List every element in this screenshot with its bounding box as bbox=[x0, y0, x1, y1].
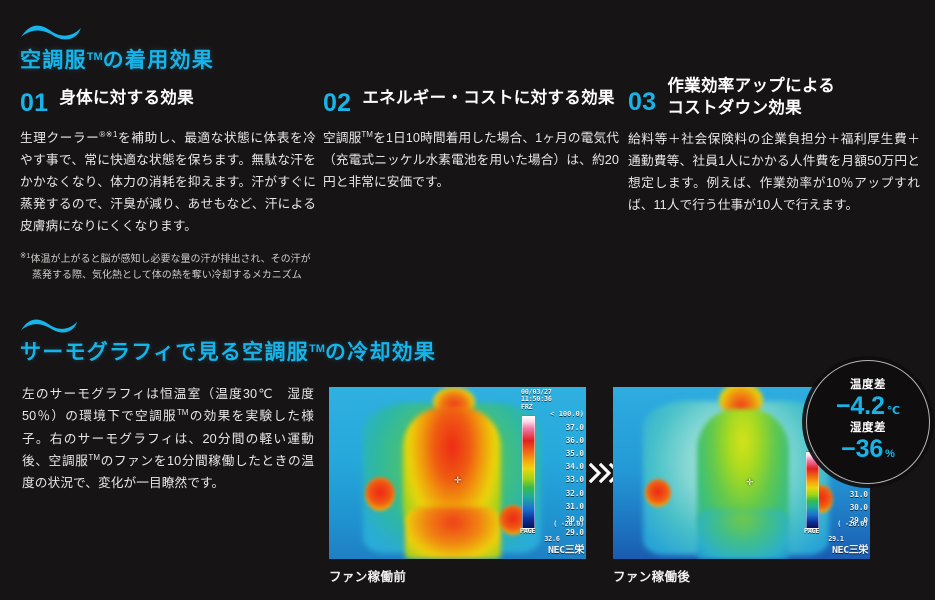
section-heading-wearing-effect: 空調服TMの着用効果 bbox=[20, 44, 214, 74]
section1-heading-main: 空調服 bbox=[20, 49, 87, 72]
wave-icon-thermography bbox=[20, 316, 82, 335]
spot-crosshair: ✛ bbox=[454, 475, 462, 486]
scale-tick: 34.0 bbox=[536, 463, 584, 471]
thermal-colour-bar bbox=[806, 451, 819, 529]
scale-tick: 36.0 bbox=[536, 437, 584, 445]
scale-tick: 30.0 bbox=[820, 504, 868, 512]
thermogram-after-footer: ( -20.0) PAGE 29.1 NEC三栄 bbox=[804, 521, 868, 556]
brochure-page: 空調服TMの着用効果 01 身体に対する効果 生理クーラー®※1を補助し、最適な… bbox=[0, 0, 935, 600]
column-03-body: 給料等＋社会保険料の企業負担分＋福利厚生費＋通勤費等、社員1人にかかる人件費を月… bbox=[628, 129, 920, 217]
column-02-title: エネルギー・コストに対する効果 bbox=[362, 88, 614, 110]
scale-tick: 31.0 bbox=[820, 491, 868, 499]
wave-icon-top bbox=[20, 22, 86, 42]
thermal-hand-left bbox=[365, 477, 395, 511]
badge-humidity-value: −36 bbox=[841, 435, 883, 463]
nec-sanei-brand: NEC三栄 bbox=[804, 545, 868, 557]
scale-range-top: < 100.0) bbox=[536, 411, 584, 418]
badge-temp-label: 温度差 bbox=[850, 379, 886, 392]
column-03-title-line-1: 作業効率アップによる bbox=[667, 76, 835, 98]
trademark-mark: TM bbox=[87, 51, 103, 63]
feature-column-01: 01 身体に対する効果 生理クーラー®※1を補助し、最適な状態に体表を冷やす事で… bbox=[20, 88, 316, 284]
column-01-number: 01 bbox=[20, 88, 48, 117]
thermography-description: 左のサーモグラフィは恒温室（温度30℃ 湿度50％）の環境下で空調服TMの効果を… bbox=[22, 383, 314, 495]
thermogram-before-image: ✛ 00/03/27 11:50:36 FRZ < 100.0) 37.0 36… bbox=[329, 387, 586, 559]
column-02-number: 02 bbox=[323, 88, 351, 117]
footnote-mark: ※1 bbox=[20, 251, 30, 260]
scale-tick: 35.0 bbox=[536, 450, 584, 458]
thermogram-before-footer: ( -20.0) PAGE 32.6 NEC三栄 bbox=[520, 521, 584, 556]
thermal-lower-body bbox=[405, 507, 501, 559]
feature-column-02: 02 エネルギー・コストに対する効果 空調服TMを1日10時間着用した場合、1ヶ… bbox=[323, 88, 619, 194]
column-03-title: 作業効率アップによる コストダウン効果 bbox=[667, 76, 835, 120]
scale-tick: 33.0 bbox=[536, 476, 584, 484]
section2-heading-tail: の冷却効果 bbox=[325, 341, 436, 364]
scale-tick: 37.0 bbox=[536, 424, 584, 432]
spot-temperature-value: 32.6 bbox=[520, 536, 584, 544]
badge-humidity-unit: % bbox=[885, 448, 895, 460]
badge-temp-value-row: −4.2℃ bbox=[836, 393, 900, 419]
thermal-scale-before: 00/03/27 11:50:36 FRZ < 100.0) 37.0 36.0… bbox=[520, 389, 584, 557]
column-03-number: 03 bbox=[628, 76, 656, 116]
spot-crosshair: ✛ bbox=[746, 477, 754, 488]
footnote-line-2: 蒸発する際、気化熱として体の熱を奪い冷却するメカニズム bbox=[20, 268, 316, 284]
spot-temperature-value: 29.1 bbox=[804, 536, 868, 544]
column-01-body: 生理クーラー®※1を補助し、最適な状態に体表を冷やす事で、常に快適な状態を保ちま… bbox=[20, 128, 316, 238]
column-02-body: 空調服TMを1日10時間着用した場合、1ヶ月の電気代（充電式ニッケル水素電池を用… bbox=[323, 128, 619, 194]
thermogram-before-caption: ファン稼働前 bbox=[329, 566, 586, 585]
thermal-colour-bar bbox=[522, 415, 535, 529]
thermal-lower-body bbox=[697, 509, 789, 559]
scale-tick: 32.0 bbox=[536, 490, 584, 498]
column-03-title-line-2: コストダウン効果 bbox=[667, 98, 835, 120]
badge-temp-unit: ℃ bbox=[887, 405, 900, 417]
feature-column-03: 03 作業効率アップによる コストダウン効果 給料等＋社会保険料の企業負担分＋福… bbox=[628, 76, 920, 217]
thermogram-before-meta: 00/03/27 11:50:36 FRZ bbox=[521, 389, 552, 411]
footnote-line-1: 体温が上がると脳が感知し必要な量の汗が排出され、その汗が bbox=[30, 254, 310, 265]
scale-tick: 31.0 bbox=[536, 503, 584, 511]
trademark-mark-2: TM bbox=[309, 343, 325, 355]
column-01-footnote: ※1体温が上がると脳が感知し必要な量の汗が排出され、その汗が 蒸発する際、気化熱… bbox=[20, 250, 316, 284]
section2-heading-pre: サーモグラフィで見る空調服 bbox=[20, 341, 309, 364]
badge-humidity-value-row: −36% bbox=[841, 436, 895, 462]
thermal-hand-left bbox=[645, 479, 671, 507]
thermogram-before: ✛ 00/03/27 11:50:36 FRZ < 100.0) 37.0 36… bbox=[329, 387, 586, 585]
column-01-title: 身体に対する効果 bbox=[59, 88, 194, 110]
nec-sanei-brand: NEC三栄 bbox=[520, 545, 584, 557]
column-03-title-row: 03 作業効率アップによる コストダウン効果 bbox=[628, 76, 920, 120]
column-01-title-row: 01 身体に対する効果 bbox=[20, 88, 316, 117]
section-heading-thermography: サーモグラフィで見る空調服TMの冷却効果 bbox=[20, 336, 436, 366]
badge-temp-value: −4.2 bbox=[836, 392, 885, 420]
badge-humidity-label: 湿度差 bbox=[850, 422, 886, 435]
result-badge: 温度差 −4.2℃ 湿度差 −36% bbox=[806, 360, 930, 484]
thermogram-after-caption: ファン稼働後 bbox=[613, 566, 870, 585]
section1-heading-tail: の着用効果 bbox=[103, 49, 214, 72]
column-02-title-row: 02 エネルギー・コストに対する効果 bbox=[323, 88, 619, 117]
